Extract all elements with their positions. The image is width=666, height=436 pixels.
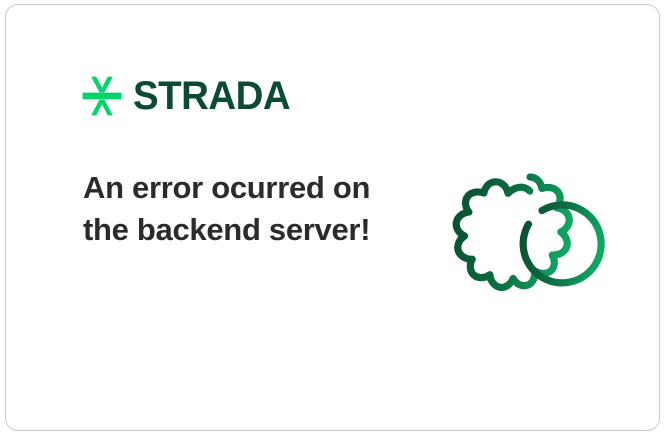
- error-headline: An error ocurred on the backend server!: [83, 167, 383, 251]
- brand-wordmark: STRADA: [133, 76, 290, 116]
- strada-asterisk-icon: [80, 74, 124, 118]
- error-card: STRADA An error ocurred on the backend s…: [5, 4, 660, 431]
- gear-icon: [450, 143, 610, 309]
- brand-lockup: STRADA: [80, 71, 297, 121]
